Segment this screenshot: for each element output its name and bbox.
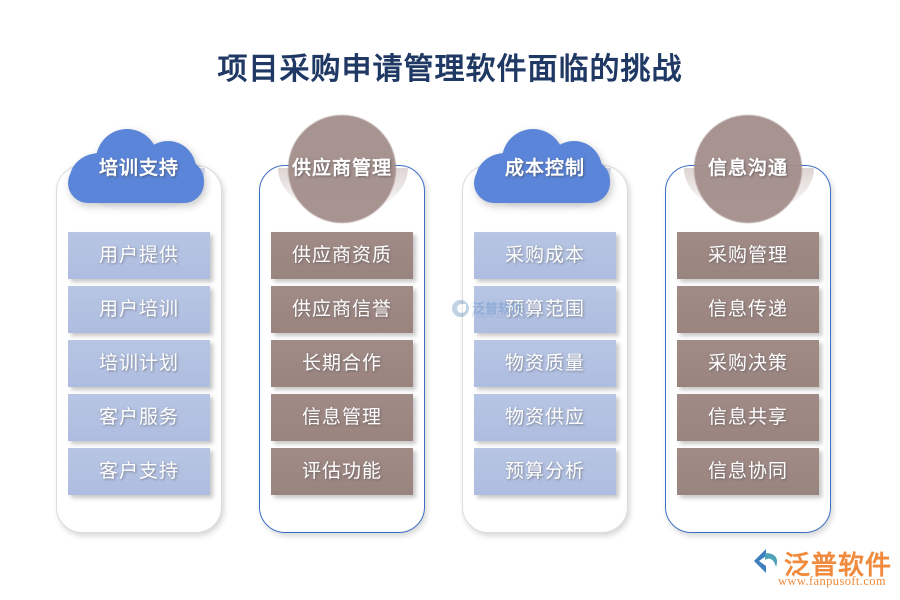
category-column-information-communication: 信息沟通 采购管理 信息传递 采购决策 信息共享 信息协同 [665, 165, 833, 535]
brand-url: www.fanpusoft.com [778, 574, 886, 589]
panel-sheen [278, 168, 408, 214]
fanpu-logo-icon [752, 547, 782, 575]
panel-sheen [481, 168, 611, 214]
category-item[interactable]: 信息协同 [677, 448, 819, 495]
category-item[interactable]: 预算分析 [474, 448, 616, 495]
category-item[interactable]: 客户支持 [68, 448, 210, 495]
category-item[interactable]: 评估功能 [271, 448, 413, 495]
category-item-list: 采购管理 信息传递 采购决策 信息共享 信息协同 [677, 232, 819, 502]
category-item[interactable]: 物资质量 [474, 340, 616, 387]
panel-sheen [75, 168, 205, 214]
category-item[interactable]: 采购管理 [677, 232, 819, 279]
category-item[interactable]: 客户服务 [68, 394, 210, 441]
category-column-training-support: 培训支持 用户提供 用户培训 培训计划 客户服务 客户支持 [56, 165, 224, 535]
category-item-list: 供应商资质 供应商信誉 长期合作 信息管理 评估功能 [271, 232, 413, 502]
category-item[interactable]: 长期合作 [271, 340, 413, 387]
category-item[interactable]: 物资供应 [474, 394, 616, 441]
category-item[interactable]: 供应商信誉 [271, 286, 413, 333]
category-item[interactable]: 采购成本 [474, 232, 616, 279]
category-column-cost-control: 成本控制 采购成本 预算范围 物资质量 物资供应 预算分析 [462, 165, 630, 535]
category-item[interactable]: 预算范围 [474, 286, 616, 333]
category-item[interactable]: 采购决策 [677, 340, 819, 387]
category-item[interactable]: 用户培训 [68, 286, 210, 333]
slide-canvas: 项目采购申请管理软件面临的挑战 培训支持 用户提供 用户培训 培训计划 客户服务… [0, 0, 900, 600]
category-item[interactable]: 培训计划 [68, 340, 210, 387]
page-title: 项目采购申请管理软件面临的挑战 [0, 44, 900, 88]
category-item-list: 采购成本 预算范围 物资质量 物资供应 预算分析 [474, 232, 616, 502]
category-item[interactable]: 信息传递 [677, 286, 819, 333]
category-item[interactable]: 信息管理 [271, 394, 413, 441]
category-column-supplier-management: 供应商管理 供应商资质 供应商信誉 长期合作 信息管理 评估功能 [259, 165, 427, 535]
category-item[interactable]: 用户提供 [68, 232, 210, 279]
category-item[interactable]: 信息共享 [677, 394, 819, 441]
category-item[interactable]: 供应商资质 [271, 232, 413, 279]
category-item-list: 用户提供 用户培训 培训计划 客户服务 客户支持 [68, 232, 210, 502]
panel-sheen [684, 168, 814, 214]
brand-logo: 泛普软件 www.fanpusoft.com [752, 545, 892, 591]
